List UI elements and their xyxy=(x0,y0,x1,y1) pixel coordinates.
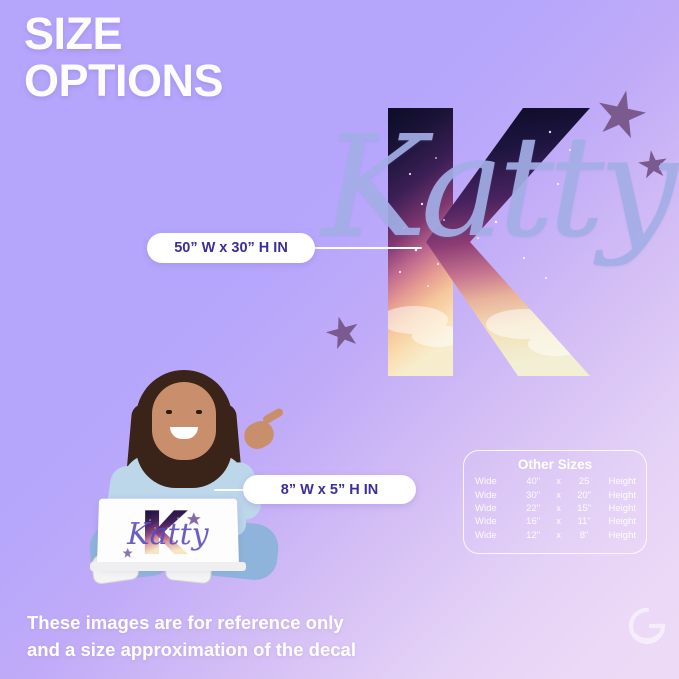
size-callout-small-label: 8” W x 5” H IN xyxy=(281,482,379,498)
other-sizes-table: Wide 40" x 25 Height Wide 30" x 20" Heig… xyxy=(464,475,646,542)
cell-height-label: Height xyxy=(599,475,646,488)
cell-width: 30" xyxy=(519,488,548,501)
page-title: SIZE OPTIONS xyxy=(24,10,223,105)
eye-left xyxy=(166,410,172,414)
cell-x: x xyxy=(548,515,570,528)
face xyxy=(152,382,216,460)
cell-height-label: Height xyxy=(599,515,646,528)
laptop-screen: Katty xyxy=(97,499,239,567)
laptop-base xyxy=(90,562,246,571)
g-monogram-logo-icon xyxy=(625,606,669,650)
table-row: Wide 22" x 15" Height xyxy=(464,502,646,515)
laptop-decal-svg: Katty xyxy=(97,499,239,567)
cell-height: 20" xyxy=(570,488,599,501)
cell-wide: Wide xyxy=(464,515,519,528)
disclaimer-text: These images are for reference only and … xyxy=(27,610,356,664)
eye-right xyxy=(196,410,202,414)
callout-leader-line-large xyxy=(312,247,422,249)
cell-height-label: Height xyxy=(599,502,646,515)
disclaimer-line-2: and a size approximation of the decal xyxy=(27,637,356,664)
other-sizes-table-body: Wide 40" x 25 Height Wide 30" x 20" Heig… xyxy=(464,475,646,542)
cell-width: 16" xyxy=(519,515,548,528)
cell-width: 40" xyxy=(519,475,548,488)
size-callout-small[interactable]: 8” W x 5” H IN xyxy=(243,475,416,504)
cell-wide: Wide xyxy=(464,502,519,515)
pointing-hand xyxy=(240,416,279,453)
k-letter-graphic xyxy=(318,88,679,398)
k-letter-svg xyxy=(318,88,679,398)
table-row: Wide 40" x 25 Height xyxy=(464,475,646,488)
cell-x: x xyxy=(548,488,570,501)
cell-wide: Wide xyxy=(464,488,519,501)
cell-height: 25 xyxy=(570,475,599,488)
cell-wide: Wide xyxy=(464,529,519,542)
other-sizes-title: Other Sizes xyxy=(464,457,646,472)
cell-x: x xyxy=(548,502,570,515)
size-callout-large[interactable]: 50” W x 30” H IN xyxy=(147,233,315,263)
cell-x: x xyxy=(548,475,570,488)
cell-width: 12" xyxy=(519,529,548,542)
wall-decal-artwork: Katty xyxy=(318,88,679,398)
cell-wide: Wide xyxy=(464,475,519,488)
other-sizes-panel: Other Sizes Wide 40" x 25 Height Wide 30… xyxy=(463,450,647,554)
cell-height: 15" xyxy=(570,502,599,515)
cell-x: x xyxy=(548,529,570,542)
cell-height-label: Height xyxy=(599,488,646,501)
cell-height: 8" xyxy=(570,529,599,542)
cell-height: 11" xyxy=(570,515,599,528)
table-row: Wide 16" x 11" Height xyxy=(464,515,646,528)
pointing-finger xyxy=(261,407,284,425)
disclaimer-line-1: These images are for reference only xyxy=(27,610,356,637)
table-row: Wide 30" x 20" Height xyxy=(464,488,646,501)
size-options-graphic: SIZE OPTIONS xyxy=(0,0,679,679)
size-callout-large-label: 50” W x 30” H IN xyxy=(174,240,288,256)
page-title-line-1: SIZE xyxy=(24,8,122,59)
page-title-line-2: OPTIONS xyxy=(24,57,223,104)
cell-height-label: Height xyxy=(599,529,646,542)
table-row: Wide 12" x 8" Height xyxy=(464,529,646,542)
cell-width: 22" xyxy=(519,502,548,515)
